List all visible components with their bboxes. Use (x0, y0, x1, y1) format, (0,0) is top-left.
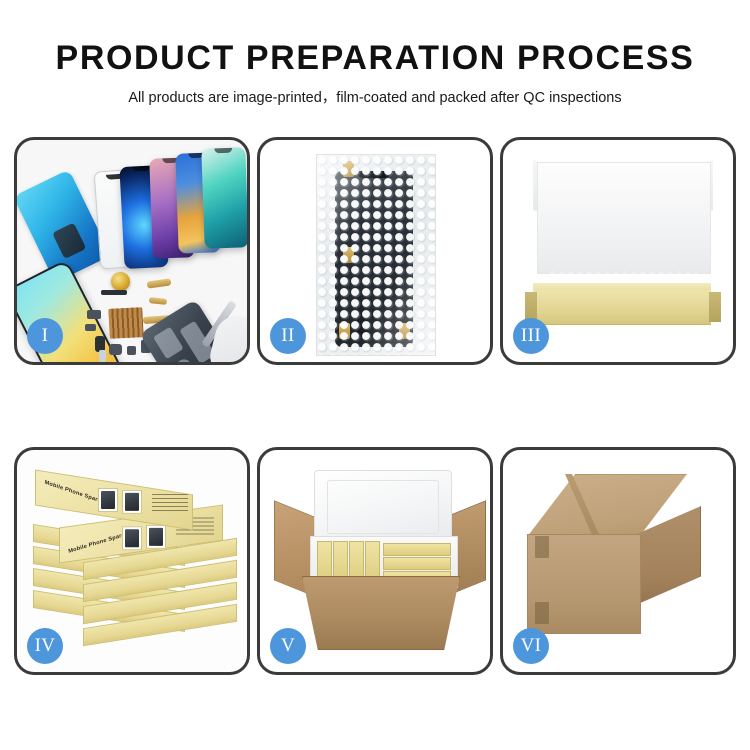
carton-tape-lower-graphic (535, 602, 549, 624)
box-window-1b (122, 490, 142, 514)
flex-cable-graphic-2 (149, 297, 168, 305)
foam-lid-graphic (314, 470, 452, 544)
carton-tape-upper-graphic (535, 536, 549, 558)
box-window-1a (98, 488, 118, 512)
connector-bar-graphic-1 (101, 290, 127, 295)
step-badge-3: III (513, 318, 549, 354)
process-step-panel-6[interactable]: VI (500, 447, 736, 675)
process-step-panel-1[interactable]: I (14, 137, 250, 365)
box-stack-graphic: Mobile Phone Spare Parts Mobile Phone Sp… (31, 476, 239, 662)
small-part-graphic-6 (99, 350, 106, 362)
box-spec-text-1 (152, 494, 188, 514)
process-step-grid: I II III (14, 137, 736, 675)
page-subtitle: All products are image-printed，film-coat… (0, 88, 750, 108)
step-badge-2: II (270, 318, 306, 354)
carton-body-graphic (302, 576, 460, 650)
box-front-graphic (533, 290, 711, 325)
box-lid-graphic (537, 162, 711, 274)
process-step-panel-4[interactable]: Mobile Phone Spare Parts Mobile Phone Sp… (14, 447, 250, 675)
bag-sheen-graphic (317, 155, 435, 355)
step-badge-6: VI (513, 628, 549, 664)
bubble-bag-graphic (316, 154, 436, 356)
small-part-graphic-4 (127, 346, 136, 355)
process-step-panel-5[interactable]: V (257, 447, 493, 675)
screw-tray-graphic (108, 307, 144, 339)
step-badge-1: I (27, 318, 63, 354)
process-step-panel-3[interactable]: III (500, 137, 736, 365)
process-step-panel-2[interactable]: II (257, 137, 493, 365)
flex-cable-graphic-1 (147, 278, 172, 288)
step-badge-4: IV (27, 628, 63, 664)
phone-screen-teal-graphic (201, 147, 247, 248)
small-part-graphic-2 (85, 324, 96, 331)
box-corner-tab-right-graphic (709, 292, 721, 322)
box-window-2a (122, 526, 142, 550)
page-title: PRODUCT PREPARATION PROCESS (0, 38, 750, 78)
speaker-coil-graphic (111, 272, 130, 291)
page-header: PRODUCT PREPARATION PROCESS All products… (0, 0, 750, 108)
box-window-2b (146, 525, 166, 549)
inner-yellow-box-6 (383, 557, 451, 570)
step-badge-5: V (270, 628, 306, 664)
small-part-graphic-1 (87, 310, 101, 319)
small-part-graphic-3 (109, 344, 122, 355)
inner-yellow-box-5 (383, 543, 451, 556)
